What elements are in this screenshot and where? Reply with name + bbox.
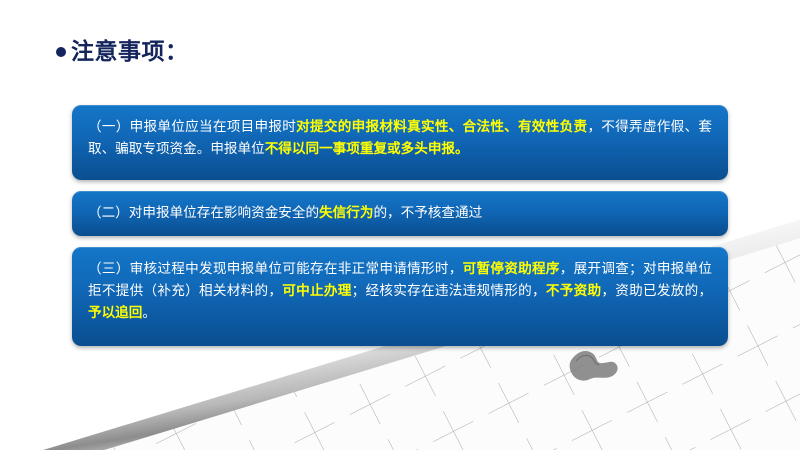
page-title: 注意事项： xyxy=(56,40,189,63)
note-highlight-text: 不得以同一事项重复或多头申报。 xyxy=(265,141,469,156)
note-highlight-text: 对提交的申报材料真实性、合法性、有效性负责 xyxy=(296,119,587,134)
missing-puzzle-piece xyxy=(566,345,624,391)
note-plain-text: ；经核实存在违法违规情形的， xyxy=(352,283,546,298)
note-highlight-text: 可暂停资助程序 xyxy=(463,261,560,276)
note-plain-text: ，资助已发放的， xyxy=(601,283,712,298)
note-item-1: （一）申报单位应当在项目申报时对提交的申报材料真实性、合法性、有效性负责，不得弄… xyxy=(72,105,728,180)
note-highlight-text: 失信行为 xyxy=(319,205,373,220)
note-plain-text: （一）申报单位应当在项目申报时 xyxy=(88,119,296,134)
note-plain-text: 的，不予核查通过 xyxy=(373,205,482,220)
note-item-2: （二）对申报单位存在影响资金安全的失信行为的，不予核查通过 xyxy=(72,191,728,236)
page-title-text: 注意事项： xyxy=(71,40,189,63)
note-highlight-text: 予以追回 xyxy=(88,305,142,320)
slide-canvas: 注意事项： （一）申报单位应当在项目申报时对提交的申报材料真实性、合法性、有效性… xyxy=(0,0,800,450)
notes-list: （一）申报单位应当在项目申报时对提交的申报材料真实性、合法性、有效性负责，不得弄… xyxy=(72,105,728,346)
note-highlight-text: 可中止办理 xyxy=(282,283,351,298)
note-highlight-text: 不予资助 xyxy=(546,283,602,298)
note-plain-text: （三）审核过程中发现申报单位可能存在非正常申请情形时， xyxy=(88,261,463,276)
bullet-icon xyxy=(56,47,66,57)
note-item-3: （三）审核过程中发现申报单位可能存在非正常申请情形时，可暂停资助程序，展开调查；… xyxy=(72,247,728,346)
note-plain-text: 。 xyxy=(142,305,156,320)
note-plain-text: （二）对申报单位存在影响资金安全的 xyxy=(88,205,319,220)
